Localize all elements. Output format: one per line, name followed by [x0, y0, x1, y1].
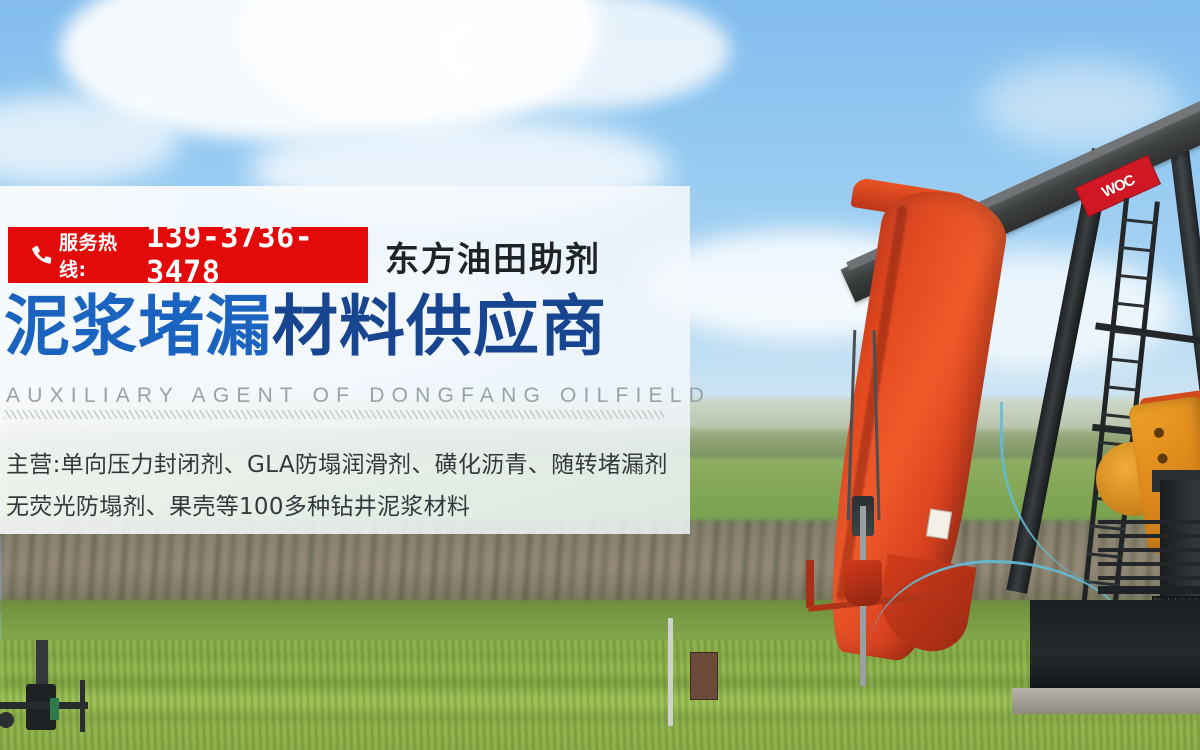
wellhead-valve	[0, 712, 14, 728]
wellhead	[0, 640, 140, 740]
platform	[1098, 586, 1200, 594]
headline: 泥浆堵漏材料供应商	[4, 294, 607, 360]
electric-pole	[668, 618, 673, 726]
concrete-slab	[1012, 688, 1200, 714]
pumpjack: WOC	[700, 0, 1200, 750]
horsehead-brace	[806, 560, 814, 608]
beam-label-text: WOC	[1099, 171, 1137, 200]
headline-rest: 材料供应商	[272, 288, 607, 365]
electric-box	[690, 652, 718, 700]
wellhead-pipe	[0, 702, 88, 709]
horsehead-sticker	[926, 508, 952, 539]
hotline-bar[interactable]: 服务热线: 139-3736-3478	[8, 227, 368, 283]
hotline-label: 服务热线:	[59, 228, 138, 282]
description-line-2: 无荧光防塌剂、果壳等100多种钻井泥浆材料	[6, 486, 668, 528]
wellhead-post	[80, 680, 85, 732]
hotline-number: 139-3736-3478	[146, 220, 368, 290]
description: 主营:单向压力封闭剂、GLA防塌润滑剂、磺化沥青、随转堵漏剂 无荧光防塌剂、果壳…	[6, 444, 668, 528]
description-line-1: 主营:单向压力封闭剂、GLA防塌润滑剂、磺化沥青、随转堵漏剂	[6, 444, 668, 486]
headline-highlight: 泥浆堵漏	[4, 288, 272, 365]
subtitle-english: AUXILIARY AGENT OF DONGFANG OILFIELD	[6, 384, 711, 408]
hatched-divider	[4, 410, 664, 419]
base-frame	[1030, 600, 1200, 692]
rod-clamp	[844, 560, 882, 606]
banner-stage: WOC	[0, 0, 1200, 750]
brand-name: 东方油田助剂	[385, 232, 601, 281]
phone-icon	[30, 244, 52, 266]
wellhead-marker	[50, 698, 59, 720]
